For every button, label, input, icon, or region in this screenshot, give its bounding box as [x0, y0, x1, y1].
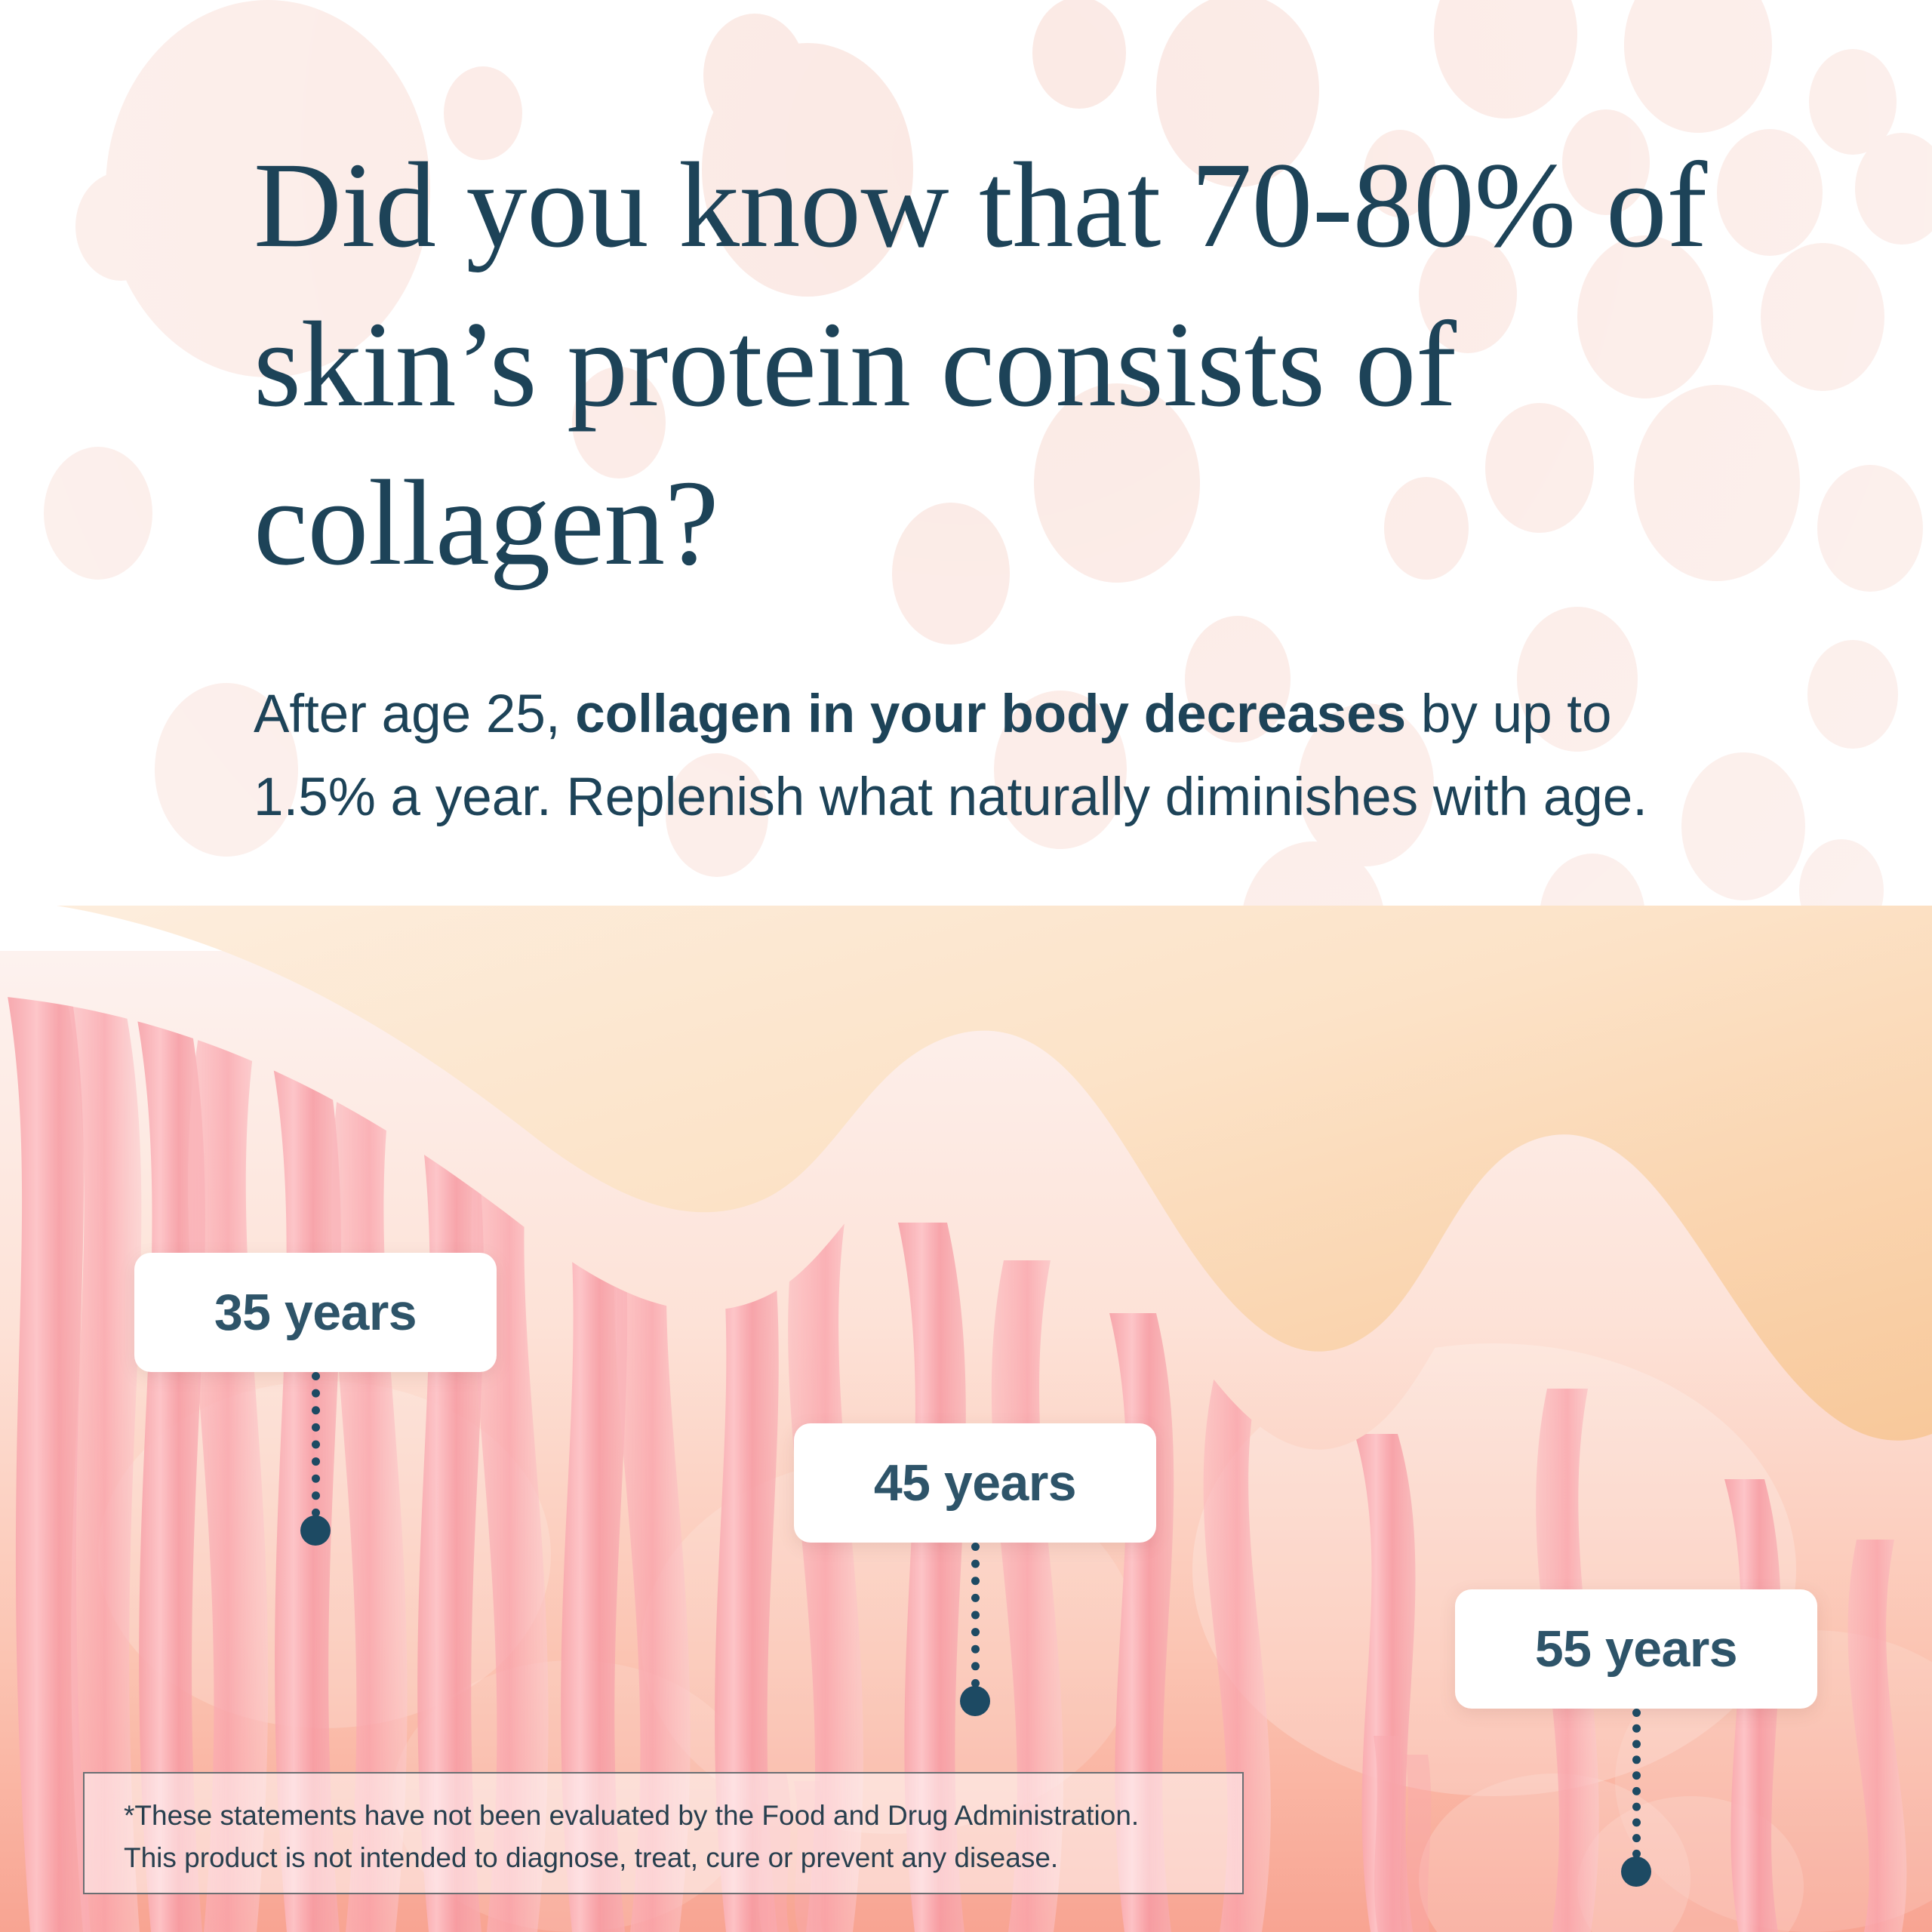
callout-dot-45: [960, 1686, 990, 1716]
callout-card-45[interactable]: 45 years: [794, 1423, 1156, 1543]
text-block: Did you know that 70-80% of skin’s prote…: [254, 127, 1763, 839]
page-headline: Did you know that 70-80% of skin’s prote…: [254, 127, 1725, 604]
infographic-canvas: Did you know that 70-80% of skin’s prote…: [0, 0, 1932, 1932]
body-copy-lead: After age 25,: [254, 685, 575, 744]
disclaimer-line-2: This product is not intended to diagnose…: [124, 1837, 1215, 1879]
body-copy: After age 25, collagen in your body decr…: [254, 673, 1650, 839]
body-copy-emphasis: collagen in your body decreases: [575, 685, 1406, 744]
fda-disclaimer-box: *These statements have not been evaluate…: [83, 1772, 1244, 1894]
callout-stem-55: [1632, 1709, 1641, 1858]
callout-card-55[interactable]: 55 years: [1455, 1589, 1817, 1709]
callout-dot-55: [1621, 1857, 1651, 1887]
callout-card-35[interactable]: 35 years: [134, 1253, 497, 1372]
callout-stem-45: [971, 1543, 980, 1687]
callout-45-years[interactable]: 45 years: [794, 1423, 1156, 1725]
callout-55-years[interactable]: 55 years: [1455, 1589, 1817, 1906]
callout-35-years[interactable]: 35 years: [134, 1253, 497, 1555]
callout-stem-35: [312, 1372, 320, 1517]
callout-dot-35: [300, 1515, 331, 1546]
disclaimer-line-1: *These statements have not been evaluate…: [124, 1795, 1215, 1837]
